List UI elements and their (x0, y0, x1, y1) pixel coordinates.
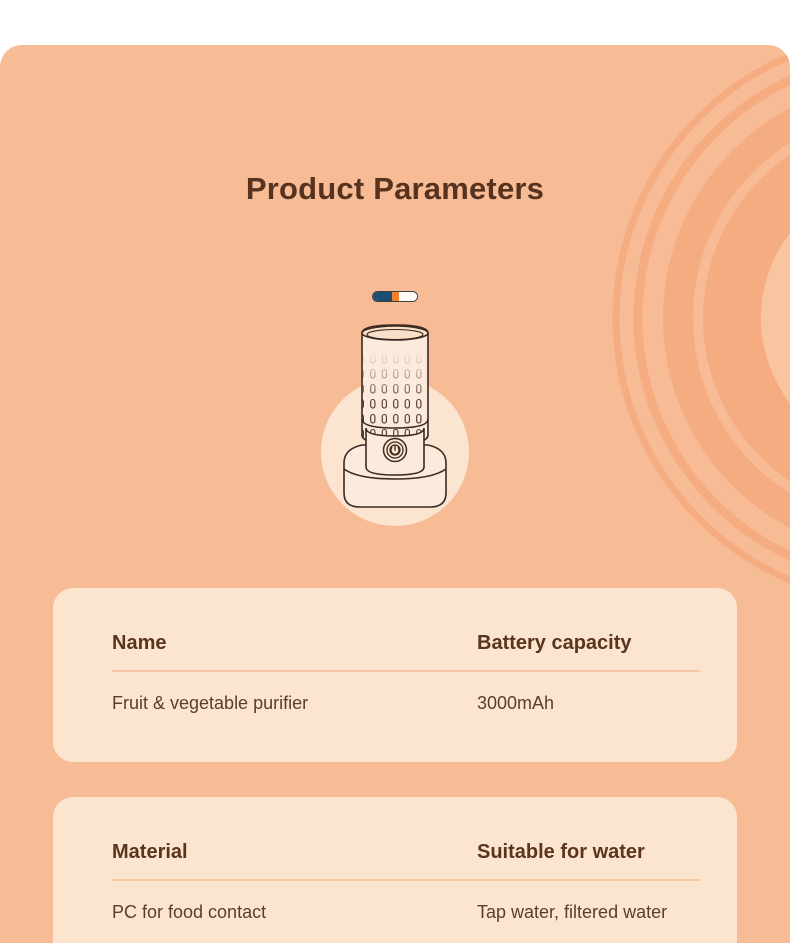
purifier-cylinder (350, 325, 440, 447)
spec-header-battery-capacity: Battery capacity (477, 632, 632, 655)
product-parameters-page: Product Parameters (0, 0, 790, 943)
pill-indicator (372, 291, 418, 302)
pill-blue-segment (373, 292, 392, 301)
spec-card: Name Battery capacity Fruit & vegetable … (53, 588, 737, 762)
spec-card: Material Suitable for water PC for food … (53, 797, 737, 943)
spec-header-suitable-for-water: Suitable for water (477, 841, 645, 864)
orange-panel: Product Parameters (0, 45, 790, 943)
product-illustration (310, 307, 480, 537)
spec-value-suitable-for-water: Tap water, filtered water (477, 902, 667, 923)
spec-value-battery-capacity: 3000mAh (477, 693, 554, 714)
cylinder-rim (362, 326, 428, 340)
power-button (384, 439, 407, 462)
pill-orange-segment (392, 292, 399, 301)
page-title: Product Parameters (0, 171, 790, 207)
spec-divider (112, 879, 700, 881)
spec-value-material: PC for food contact (112, 902, 266, 923)
spec-divider (112, 670, 700, 672)
pill-white-segment (399, 292, 417, 301)
spec-value-name: Fruit & vegetable purifier (112, 693, 308, 714)
spec-header-name: Name (112, 632, 166, 655)
spec-header-material: Material (112, 841, 188, 864)
